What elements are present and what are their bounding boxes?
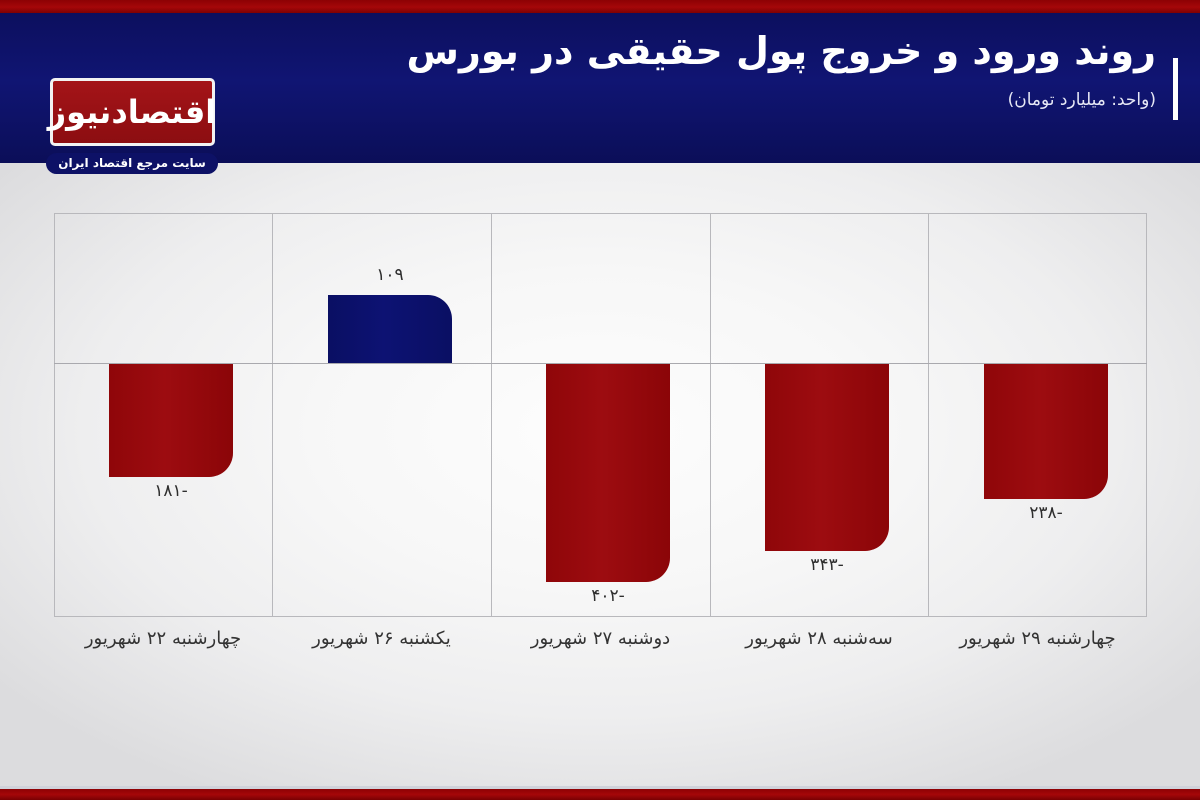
x-axis-labels: چهارشنبه ۲۲ شهریور یکشنبه ۲۶ شهریور دوشن… xyxy=(54,628,1147,674)
bar-label-0: -۱۸۱ xyxy=(109,481,233,501)
bar-2[interactable] xyxy=(546,364,670,582)
bar-4[interactable] xyxy=(984,364,1108,499)
bar-1[interactable] xyxy=(328,295,452,363)
x-tick-3: سه‌شنبه ۲۸ شهریور xyxy=(710,628,928,649)
unit-subtitle: (واحد: میلیارد تومان) xyxy=(298,90,1178,110)
top-red-stripe xyxy=(0,0,1200,13)
bar-label-3: -۳۴۳ xyxy=(765,555,889,575)
chart-plot-area: -۱۸۱ ۱۰۹ -۴۰۲ -۳۴۳ -۲۳۸ xyxy=(54,213,1147,617)
bar-0[interactable] xyxy=(109,364,233,477)
title-divider-rule xyxy=(1173,58,1178,120)
logo-box: اقتصادنیوز xyxy=(50,78,215,146)
x-tick-2: دوشنبه ۲۷ شهریور xyxy=(491,628,710,649)
bottom-red-stripe xyxy=(0,789,1200,800)
infographic-poster: روند ورود و خروج پول حقیقی در بورس (واحد… xyxy=(0,0,1200,800)
x-tick-1: یکشنبه ۲۶ شهریور xyxy=(272,628,491,649)
brand-logo[interactable]: اقتصادنیوز سایت مرجع اقتصاد ایران xyxy=(44,78,220,174)
bars-layer: -۱۸۱ ۱۰۹ -۴۰۲ -۳۴۳ -۲۳۸ xyxy=(54,213,1147,617)
bar-label-1: ۱۰۹ xyxy=(328,265,452,285)
logo-wordmark: اقتصادنیوز xyxy=(48,96,217,128)
logo-tagline: سایت مرجع اقتصاد ایران xyxy=(46,153,218,174)
x-tick-4: چهارشنبه ۲۹ شهریور xyxy=(928,628,1147,649)
page-title: روند ورود و خروج پول حقیقی در بورس xyxy=(298,28,1178,76)
x-tick-0: چهارشنبه ۲۲ شهریور xyxy=(54,628,272,649)
bar-label-2: -۴۰۲ xyxy=(546,586,670,606)
title-block: روند ورود و خروج پول حقیقی در بورس (واحد… xyxy=(298,28,1178,110)
bar-3[interactable] xyxy=(765,364,889,551)
bar-label-4: -۲۳۸ xyxy=(984,503,1108,523)
